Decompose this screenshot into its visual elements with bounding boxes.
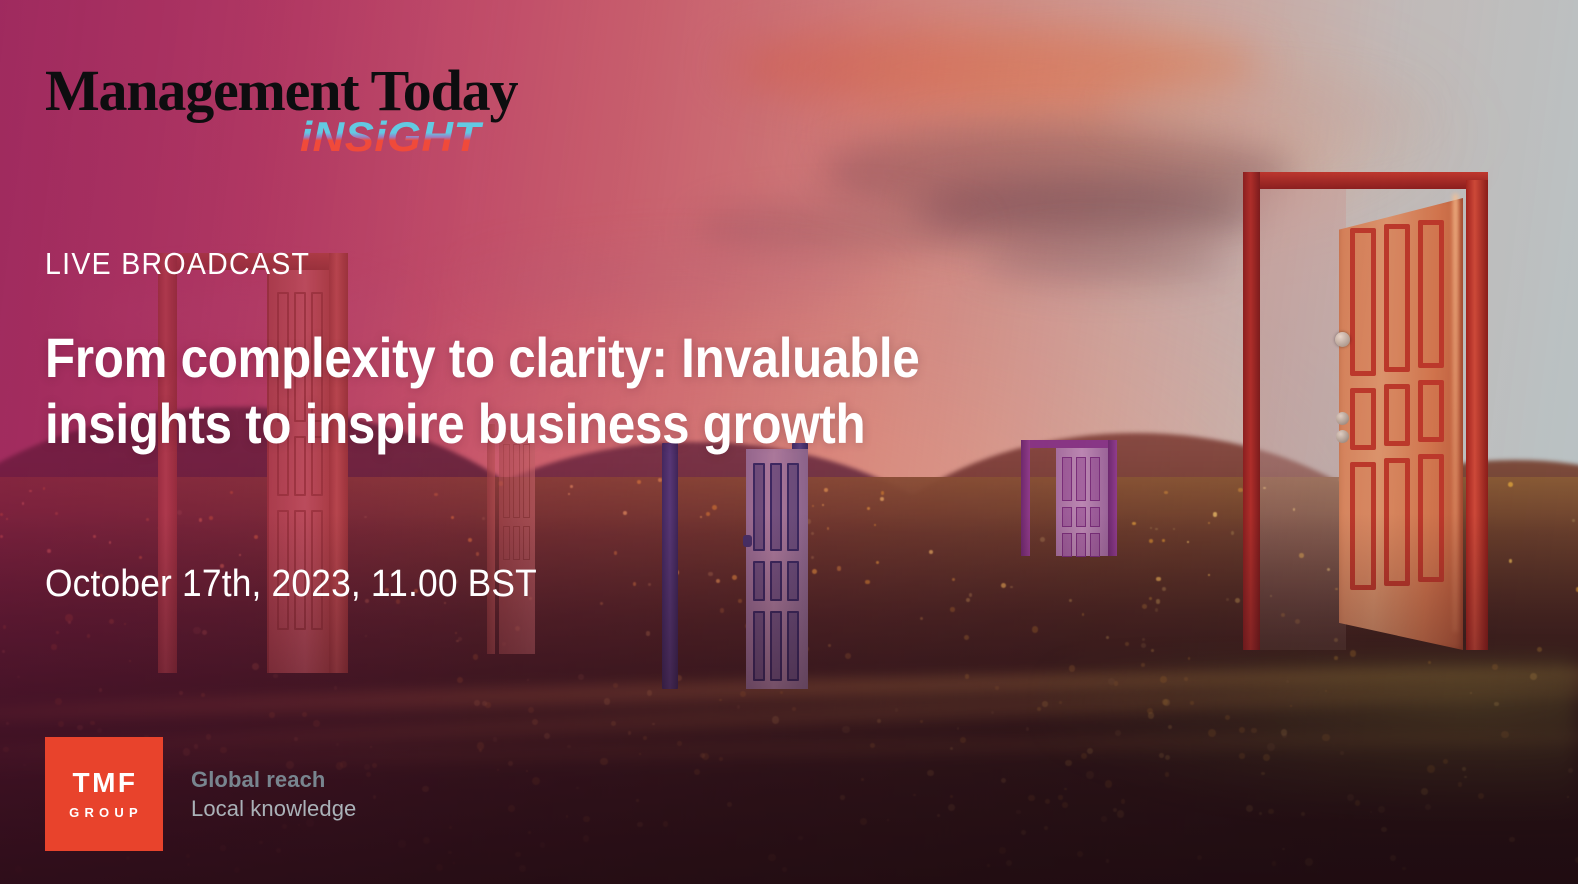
live-broadcast-label: LIVE BROADCAST <box>45 246 310 282</box>
page-title: From complexity to clarity: Invaluable i… <box>45 325 890 457</box>
sponsor-tagline: Global reach Local knowledge <box>191 766 356 822</box>
sponsor-logo-lockup: TMF GROUP Global reach Local knowledge <box>45 737 356 851</box>
tmf-mark-primary: TMF <box>72 769 137 797</box>
tmf-mark-secondary: GROUP <box>69 806 143 819</box>
headline-line-1: From complexity to clarity: Invaluable <box>45 325 890 391</box>
event-datetime: October 17th, 2023, 11.00 BST <box>45 563 537 606</box>
banner-content: Management Today iNSiGHT LIVE BROADCAST … <box>0 0 1578 884</box>
sponsor-tagline-line-1: Global reach <box>191 766 356 794</box>
publication-name: Management Today <box>45 62 517 120</box>
sponsor-tagline-line-2: Local knowledge <box>191 795 356 823</box>
tmf-logo-mark: TMF GROUP <box>45 737 163 851</box>
publication-logo: Management Today iNSiGHT <box>45 62 517 158</box>
headline-line-2: insights to inspire business growth <box>45 391 890 457</box>
promotional-banner: Management Today iNSiGHT LIVE BROADCAST … <box>0 0 1578 884</box>
sub-brand-wordmark: iNSiGHT <box>300 116 526 158</box>
